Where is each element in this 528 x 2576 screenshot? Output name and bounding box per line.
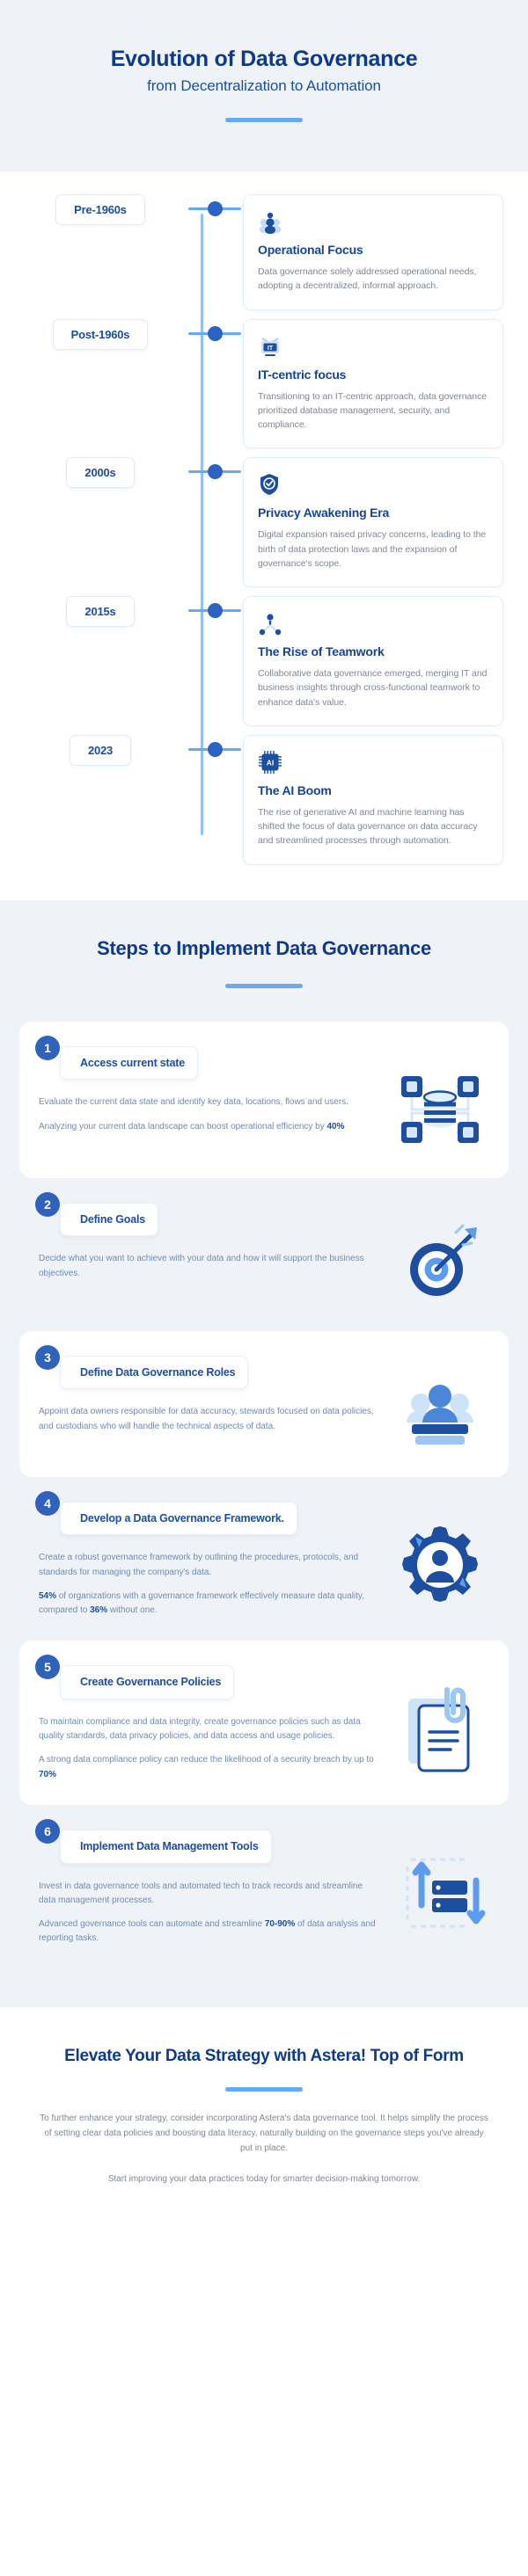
timeline-card: AI The AI Boom The rise of generative AI… — [243, 735, 503, 865]
timeline-card-body: Transitioning to an IT-centric approach,… — [258, 389, 488, 433]
timeline-dot — [208, 742, 223, 757]
step-title[interactable]: Develop a Data Governance Framework. — [60, 1502, 297, 1536]
it-monitor-icon: IT — [258, 332, 488, 359]
timeline-card-title: The AI Boom — [258, 783, 488, 797]
step-content: 2 Define Goals Decide what you want to a… — [39, 1197, 382, 1281]
step-content: 6 Implement Data Management Tools Invest… — [39, 1824, 382, 1947]
stat-mid: of organizations with a governance frame… — [39, 1591, 364, 1615]
database-network-icon — [391, 1041, 489, 1155]
step-number-badge: 5 — [35, 1655, 60, 1679]
document-clip-icon — [391, 1660, 489, 1776]
footer-divider — [225, 2087, 303, 2092]
timeline-card-title: IT-centric focus — [258, 367, 488, 382]
step-title-row: 6 Implement Data Management Tools — [39, 1824, 382, 1864]
footer-heading: Elevate Your Data Strategy with Astera! … — [39, 2046, 489, 2068]
era-column: 2015s — [12, 596, 188, 627]
target-dart-icon — [391, 1197, 489, 1308]
step-item: 2 Define Goals Decide what you want to a… — [19, 1178, 509, 1331]
page-subtitle: from Decentralization to Automation — [35, 77, 493, 95]
step-paragraph: Create a robust governance framework by … — [39, 1551, 382, 1579]
step-stat-paragraph: Analyzing your current data landscape ca… — [39, 1120, 382, 1134]
hero-divider — [225, 118, 303, 122]
era-label[interactable]: Post-1960s — [53, 319, 149, 350]
step-paragraph: Decide what you want to achieve with you… — [39, 1252, 382, 1280]
step-number-badge: 1 — [35, 1036, 60, 1060]
infographic-page: Evolution of Data Governance from Decent… — [0, 0, 528, 2234]
stat-value: 40% — [326, 1122, 344, 1132]
timeline-card-title: Privacy Awakening Era — [258, 506, 488, 520]
svg-text:AI: AI — [267, 759, 275, 768]
steps-header: Steps to Implement Data Governance — [0, 937, 528, 988]
steps-list: 1 Access current state Evaluate the curr… — [0, 1022, 528, 1969]
footer-paragraph-2: Start improving your data practices toda… — [39, 2172, 489, 2187]
timeline-card: The Rise of Teamwork Collaborative data … — [243, 596, 503, 726]
step-item: 1 Access current state Evaluate the curr… — [19, 1022, 509, 1178]
timeline-card: IT IT-centric focus Transitioning to an … — [243, 319, 503, 449]
step-title[interactable]: Implement Data Management Tools — [60, 1830, 272, 1864]
stat-value: 70-90% — [265, 1919, 295, 1929]
stat-pre: Analyzing your current data landscape ca… — [39, 1122, 326, 1132]
step-paragraph: To maintain compliance and data integrit… — [39, 1715, 382, 1743]
timeline-dot — [208, 326, 223, 341]
step-paragraph: Invest in data governance tools and auto… — [39, 1880, 382, 1908]
stat-pre: Advanced governance tools can automate a… — [39, 1919, 265, 1929]
footer-section: Elevate Your Data Strategy with Astera! … — [0, 2007, 528, 2234]
step-title-row: 2 Define Goals — [39, 1197, 382, 1237]
step-paragraph: Appoint data owners responsible for data… — [39, 1405, 382, 1433]
timeline-card: Operational Focus Data governance solely… — [243, 194, 503, 310]
step-item: 4 Develop a Data Governance Framework. C… — [19, 1477, 509, 1641]
timeline-card: Privacy Awakening Era Digital expansion … — [243, 457, 503, 587]
gear-person-icon — [391, 1496, 489, 1611]
step-content: 4 Develop a Data Governance Framework. C… — [39, 1496, 382, 1619]
page-title: Evolution of Data Governance — [35, 46, 493, 72]
step-paragraph: Evaluate the current data state and iden… — [39, 1095, 382, 1110]
step-title[interactable]: Define Goals — [60, 1203, 158, 1237]
timeline-dot — [208, 603, 223, 618]
era-column: Pre-1960s — [12, 194, 188, 225]
step-item: 6 Implement Data Management Tools Invest… — [19, 1805, 509, 1969]
steps-divider — [225, 984, 303, 988]
era-column: 2023 — [12, 735, 188, 766]
step-title-row: 3 Define Data Governance Roles — [39, 1350, 382, 1390]
timeline-item: Pre-1960s Operational Fo — [12, 194, 516, 310]
step-number-badge: 6 — [35, 1819, 60, 1844]
timeline-item: 2015s The — [12, 596, 516, 726]
step-number-badge: 3 — [35, 1345, 60, 1370]
step-title-row: 5 Create Governance Policies — [39, 1660, 382, 1699]
step-item: 3 Define Data Governance Roles Appoint d… — [19, 1331, 509, 1477]
server-arrow-icon — [391, 1824, 489, 1939]
steps-heading: Steps to Implement Data Governance — [49, 937, 479, 961]
team-roles-icon — [391, 1350, 489, 1454]
people-group-icon — [258, 207, 488, 234]
timeline-card-title: The Rise of Teamwork — [258, 644, 488, 659]
step-stat-paragraph: 54% of organizations with a governance f… — [39, 1590, 382, 1618]
step-title-row: 1 Access current state — [39, 1041, 382, 1081]
stat-value: 70% — [39, 1770, 56, 1779]
timeline-card-body: Digital expansion raised privacy concern… — [258, 528, 488, 571]
timeline-card-body: Collaborative data governance emerged, m… — [258, 666, 488, 709]
step-title[interactable]: Define Data Governance Roles — [60, 1356, 248, 1390]
timeline-card-body: Data governance solely addressed operati… — [258, 265, 488, 294]
era-column: Post-1960s — [12, 319, 188, 350]
stat-post: without one. — [107, 1605, 157, 1615]
timeline-item: Post-1960s IT — [12, 319, 516, 449]
timeline-item: 2000s Privacy Awakening Era D — [12, 457, 516, 587]
timeline-item: 2023 — [12, 735, 516, 865]
step-title[interactable]: Access current state — [60, 1046, 198, 1081]
step-stat-paragraph: Advanced governance tools can automate a… — [39, 1917, 382, 1946]
step-stat-paragraph: A strong data compliance policy can redu… — [39, 1753, 382, 1781]
era-label[interactable]: 2023 — [70, 735, 131, 766]
step-item: 5 Create Governance Policies To maintain… — [19, 1641, 509, 1805]
step-number-badge: 2 — [35, 1192, 60, 1217]
steps-section: Steps to Implement Data Governance 1 Acc… — [0, 900, 528, 2008]
era-column: 2000s — [12, 457, 188, 488]
stat-value: 54% — [39, 1591, 56, 1601]
footer-paragraph-1: To further enhance your strategy, consid… — [39, 2111, 489, 2156]
era-label[interactable]: 2015s — [66, 596, 134, 627]
stat-value-2: 36% — [90, 1605, 107, 1615]
era-label[interactable]: 2000s — [66, 457, 134, 488]
timeline-dot — [208, 201, 223, 216]
svg-text:IT: IT — [268, 346, 274, 352]
timeline-dot — [208, 464, 223, 479]
step-title-row: 4 Develop a Data Governance Framework. — [39, 1496, 382, 1536]
step-content: 3 Define Data Governance Roles Appoint d… — [39, 1350, 382, 1434]
shield-check-icon — [258, 470, 488, 497]
timeline-section: Pre-1960s Operational Fo — [0, 171, 528, 900]
era-label[interactable]: Pre-1960s — [55, 194, 145, 225]
step-content: 1 Access current state Evaluate the curr… — [39, 1041, 382, 1134]
timeline-card-body: The rise of generative AI and machine le… — [258, 805, 488, 848]
timeline: Pre-1960s Operational Fo — [0, 194, 528, 865]
ai-chip-icon: AI — [258, 748, 488, 775]
step-number-badge: 4 — [35, 1491, 60, 1516]
step-content: 5 Create Governance Policies To maintain… — [39, 1660, 382, 1782]
step-title[interactable]: Create Governance Policies — [60, 1665, 234, 1699]
collaboration-icon — [258, 609, 488, 636]
timeline-card-title: Operational Focus — [258, 243, 488, 257]
stat-pre: A strong data compliance policy can redu… — [39, 1755, 374, 1765]
hero-section: Evolution of Data Governance from Decent… — [0, 0, 528, 171]
